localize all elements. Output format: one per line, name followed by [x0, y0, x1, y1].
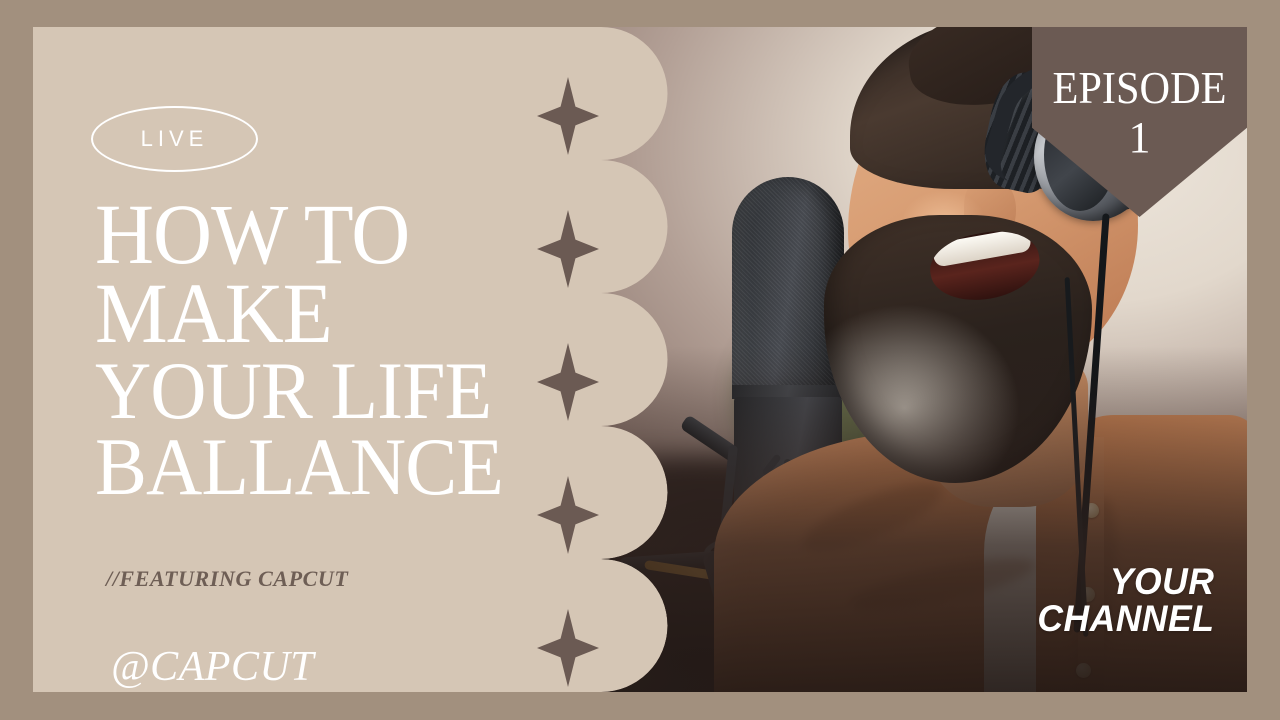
channel-tag: YOUR CHANNEL — [1037, 563, 1214, 638]
episode-label: EPISODE — [1041, 27, 1239, 111]
title-line-1: HOW TO — [95, 195, 513, 274]
title-line-4: BALLANCE — [95, 429, 513, 504]
thumbnail-canvas: LIVE HOW TO MAKE YOUR LIFE BALLANCE //FE… — [0, 0, 1280, 720]
channel-line-2: CHANNEL — [1037, 600, 1214, 638]
thumbnail-panel: LIVE HOW TO MAKE YOUR LIFE BALLANCE //FE… — [33, 27, 1247, 692]
live-badge-label: LIVE — [141, 126, 209, 152]
title-line-2: MAKE — [95, 274, 513, 353]
channel-line-1: YOUR — [1037, 563, 1214, 601]
live-badge: LIVE — [91, 106, 258, 172]
page-title: HOW TO MAKE YOUR LIFE BALLANCE — [95, 195, 513, 504]
subtitle: //FEATURING CAPCUT — [106, 566, 348, 592]
episode-number: 1 — [1032, 115, 1247, 161]
social-handle: @CAPCUT — [111, 643, 314, 691]
title-line-3: YOUR LIFE — [95, 353, 513, 428]
